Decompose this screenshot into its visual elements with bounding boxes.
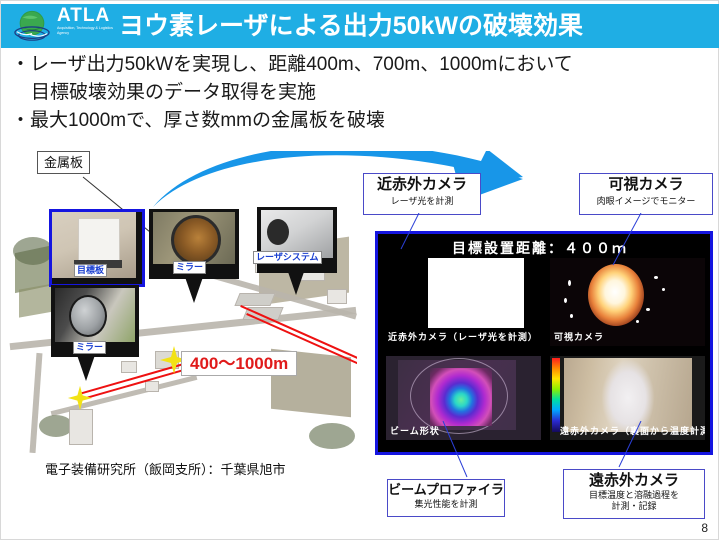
beam-profiler-callout: ビームプロファイラ 集光性能を計測: [387, 479, 505, 517]
inset-pointer-tail: [77, 355, 95, 381]
laser-aperture: [267, 219, 289, 245]
page-title: ヨウ素レーザによる出力50kWの破壊効果: [119, 10, 583, 42]
slide-root: ATLA Acquisition, Technology & Logistics…: [0, 0, 719, 540]
beam-intensity-blob: [430, 368, 492, 426]
page-number: 8: [701, 521, 708, 535]
panel-title: 目標設置距離：４００ｍ: [448, 237, 632, 259]
callout-title: ビームプロファイラ: [388, 481, 504, 498]
near-infrared-camera-callout: 近赤外カメラ レーザ光を計測: [363, 173, 481, 215]
distance-range-label: 400〜1000m: [181, 351, 297, 376]
aerial-tree: [309, 423, 355, 449]
visible-camera-callout: 可視カメラ 肉眼イメージでモニター: [579, 173, 713, 215]
nir-saturated-region: [428, 258, 524, 328]
spark: [654, 276, 658, 279]
inset-caption-laser-system: レーザシステム: [253, 251, 322, 264]
visible-impact-glow: [588, 264, 644, 326]
inset-pointer-tail: [185, 277, 203, 303]
mirror-disc: [69, 295, 107, 337]
inset-laser-system: レーザシステム: [257, 207, 337, 273]
callout-subtitle: 肉眼イメージでモニター: [580, 195, 712, 207]
bullet-list: ・レーザ出力50kWを実現し、距離400m、700m、1000mにおいて 目標破…: [11, 51, 711, 135]
inset-mirror-upper: ミラー: [149, 209, 239, 279]
callout-subtitle: 集光性能を計測: [388, 498, 504, 510]
monitor-panel: 目標設置距離：４００ｍ 近赤外カメラ（レーザ光を計測） 可視カメラ ビーム形状: [375, 231, 713, 455]
bullet-line-1: ・レーザ出力50kWを実現し、距離400m、700m、1000mにおいて: [11, 51, 711, 79]
near-infrared-callout-leader: [399, 213, 439, 253]
aerial-building: [327, 289, 347, 304]
near-infrared-camera-caption: 近赤外カメラ（レーザ光を計測）: [388, 330, 538, 343]
inset-pointer-tail: [287, 269, 305, 295]
callout-title: 遠赤外カメラ: [564, 471, 704, 490]
callout-subtitle: レーザ光を計測: [364, 195, 480, 207]
inset-caption-target-plate: 目標板: [74, 264, 107, 277]
metal-plate-label: 金属板: [37, 151, 90, 174]
flow-arrow-icon: [151, 151, 571, 211]
aerial-tree: [13, 237, 53, 265]
callout-title: 可視カメラ: [580, 175, 712, 195]
callout-subtitle-line1: 目標温度と溶融過程を: [564, 490, 704, 501]
atla-globe-logo-icon: [9, 5, 55, 47]
temperature-color-scale: [552, 358, 560, 432]
mirror-disc: [171, 215, 221, 265]
near-infrared-camera-view: 近赤外カメラ（レーザ光を計測）: [386, 258, 541, 346]
inset-target-plate: 目標板: [49, 209, 145, 287]
spark: [570, 314, 573, 318]
far-infrared-callout-leader: [617, 421, 657, 471]
aerial-building: [69, 409, 93, 445]
bullet-line-2: 目標破壊効果のデータ取得を実施: [11, 79, 711, 107]
spark: [646, 308, 650, 311]
target-plate-object: [78, 218, 120, 262]
slide-header: ATLA Acquisition, Technology & Logistics…: [1, 4, 719, 48]
spark: [662, 288, 665, 291]
visible-camera-caption: 可視カメラ: [554, 330, 604, 343]
beam-target-marker-icon: [67, 385, 93, 411]
callout-subtitle-line2: 計測・記録: [564, 501, 704, 512]
logo-acronym: ATLA: [57, 6, 119, 25]
callout-title: 近赤外カメラ: [364, 175, 480, 195]
spark: [636, 320, 639, 323]
spark: [568, 280, 571, 286]
spark: [564, 298, 567, 303]
inset-caption-mirror-upper: ミラー: [173, 261, 206, 274]
aerial-building: [121, 361, 137, 373]
bullet-line-3: ・最大1000mで、厚さ数mmの金属板を破壊: [11, 107, 711, 135]
site-caption: 電子装備研究所（飯岡支所）：千葉県旭市: [45, 459, 286, 478]
far-infrared-camera-callout: 遠赤外カメラ 目標温度と溶融過程を 計測・記録: [563, 469, 705, 519]
inset-mirror-lower: ミラー: [51, 285, 139, 357]
atla-logo-text: ATLA Acquisition, Technology & Logistics…: [57, 6, 119, 46]
aerial-tree: [39, 415, 73, 437]
visible-camera-callout-leader: [611, 213, 661, 273]
beam-shape-caption: ビーム形状: [390, 424, 440, 437]
logo-subtitle: Acquisition, Technology & Logistics Agen…: [57, 26, 119, 35]
inset-caption-mirror-lower: ミラー: [73, 341, 106, 354]
beam-profiler-callout-leader: [441, 421, 481, 481]
aerial-building: [145, 381, 159, 392]
